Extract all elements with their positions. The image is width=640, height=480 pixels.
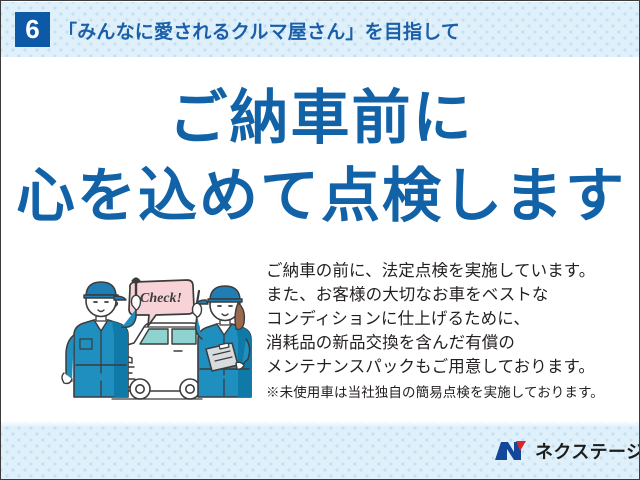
nextage-n-logo-icon: [494, 440, 528, 462]
footer-band-fade: [1, 422, 640, 427]
mechanics-van-illustration: Check!: [56, 269, 261, 401]
body-line: 消耗品の新品交換を含んだ有償の: [266, 331, 626, 355]
header-title: 「みんなに愛されるクルマ屋さん」を目指して: [58, 17, 460, 44]
body-line: コンディションに仕上げるために、: [266, 307, 626, 331]
check-bubble-label: Check!: [140, 291, 182, 306]
body-line: ご納車の前に、法定点検を実施しています。: [266, 259, 626, 283]
body-line: メンテナンスパックもご用意しております。: [266, 355, 626, 379]
body-note-line: ※未使用車は当社独自の簡易点検を実施しております。: [266, 382, 626, 404]
mechanic-male: [62, 278, 141, 397]
brand-logo: ネクステージ: [494, 438, 640, 464]
headline-line-2: 心を込めて点検します: [1, 165, 640, 227]
inspection-banner: 6 「みんなに愛されるクルマ屋さん」を目指して ご納車前に 心を込めて点検します…: [0, 0, 640, 480]
step-number-badge: 6: [15, 12, 50, 47]
mechanic-female: [193, 286, 252, 397]
body-line: また、お客様の大切なお車をベストな: [266, 283, 626, 307]
headline-line-1: ご納車前に: [1, 87, 640, 149]
brand-name: ネクステージ: [535, 438, 640, 464]
illustration-svg: Check!: [56, 269, 261, 401]
body-copy: ご納車の前に、法定点検を実施しています。 また、お客様の大切なお車をベストな コ…: [266, 259, 626, 404]
